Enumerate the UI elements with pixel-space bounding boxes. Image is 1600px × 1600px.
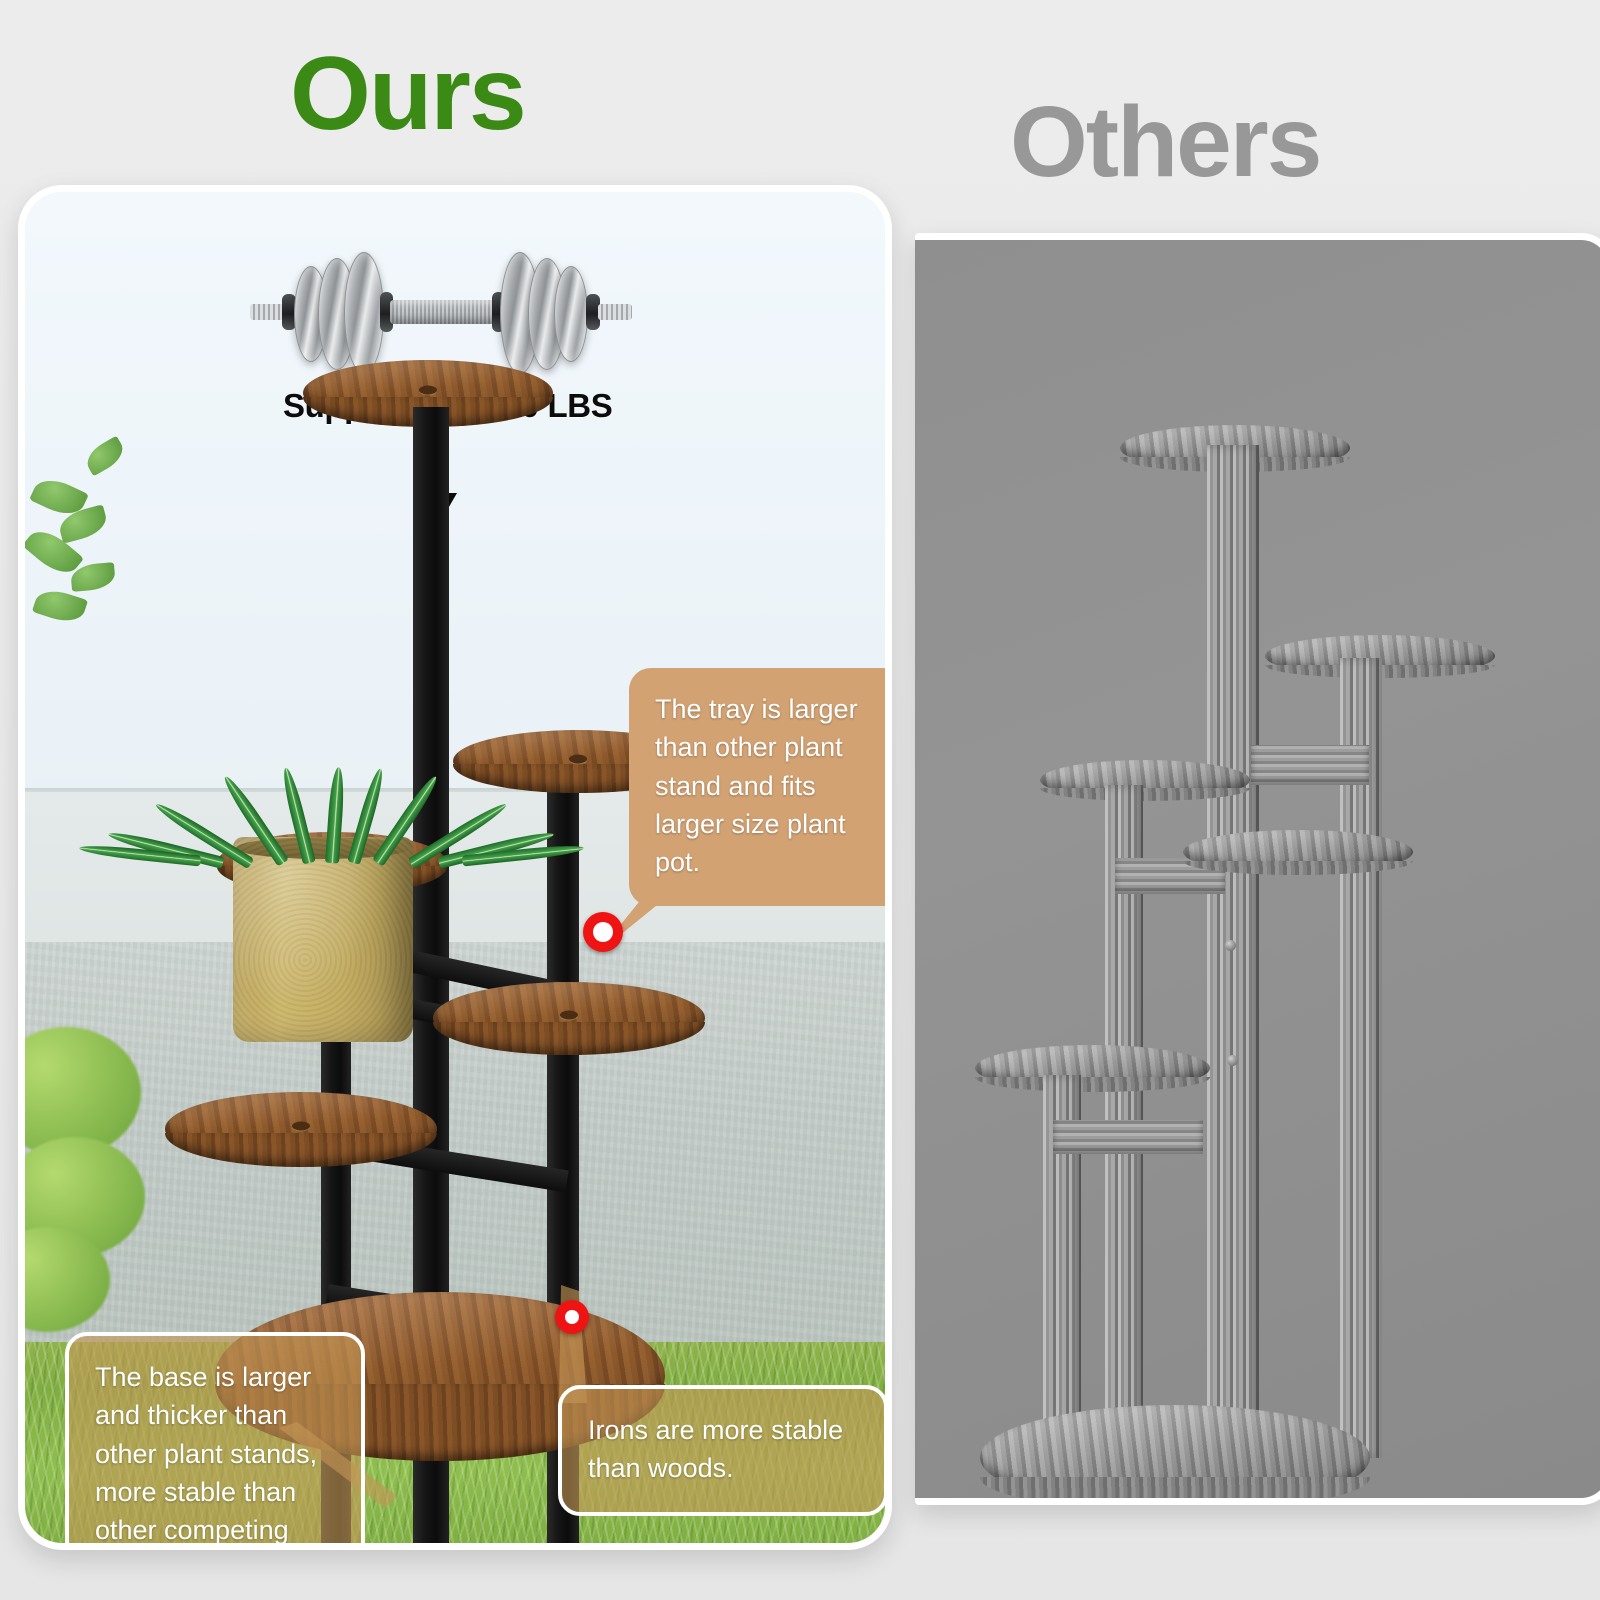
red-marker-tray: [583, 912, 623, 952]
callout-tray: The tray is larger than other plant stan…: [629, 668, 892, 906]
dumbbell-icon: [240, 252, 640, 372]
ours-panel: Support up to 60 LBS: [18, 185, 892, 1550]
tray-middle: [433, 982, 705, 1054]
page-title-others: Others: [1010, 92, 1320, 192]
others-shelf-left: [1040, 760, 1250, 800]
screw-icon: [1227, 1055, 1238, 1066]
others-base: [980, 1405, 1370, 1505]
spider-plant: [225, 647, 525, 857]
others-rail-right: [1251, 745, 1369, 785]
callout-irons: Irons are more stable than woods.: [558, 1385, 888, 1516]
others-rail-low: [1053, 1120, 1203, 1154]
callout-base: The base is larger and thicker than othe…: [65, 1332, 365, 1550]
others-shelf-low: [975, 1045, 1210, 1091]
red-marker-irons: [555, 1300, 589, 1334]
screw-icon: [1225, 940, 1236, 951]
comparison-infographic: Ours Others: [0, 0, 1600, 1600]
others-panel: [915, 233, 1600, 1505]
others-shelf-mid: [1183, 830, 1413, 874]
page-title-ours: Ours: [290, 42, 525, 146]
plant-pot: [233, 837, 413, 1042]
tray-lower-left: [165, 1092, 437, 1166]
